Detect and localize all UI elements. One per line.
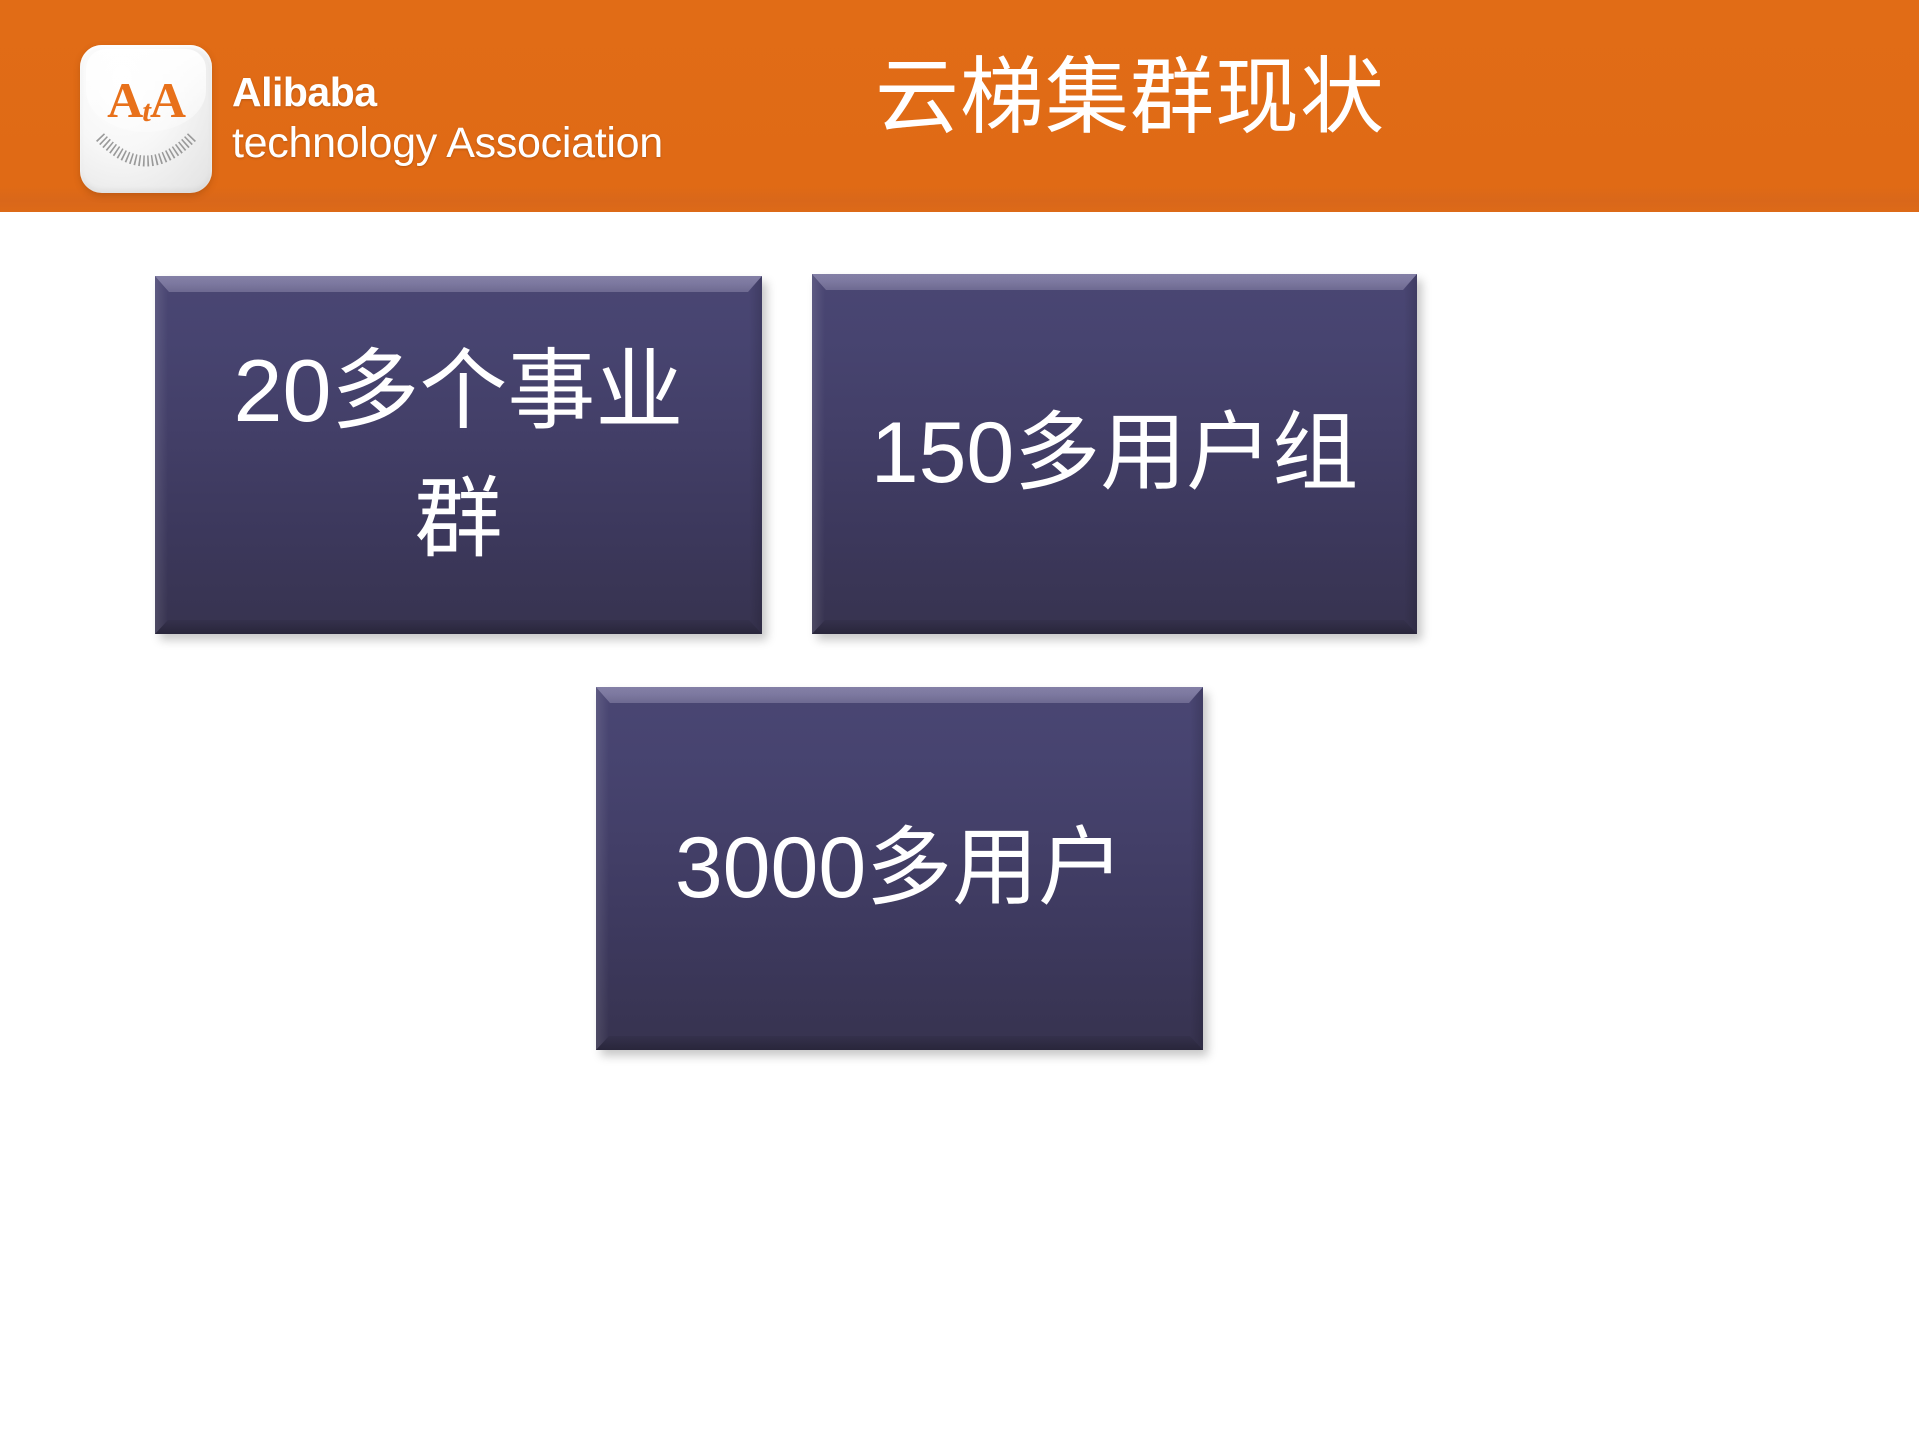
stat-box-label: 150多用户组: [812, 274, 1417, 634]
stat-box-label: 20多个事业群: [155, 276, 762, 634]
brand-name-alibaba: Alibaba: [232, 72, 663, 113]
logo-letter-t: t: [142, 93, 150, 128]
ata-logo-mark: AtA: [80, 75, 212, 125]
brand-wordmark: Alibaba technology Association: [232, 72, 663, 167]
dotted-smile-arc-icon: [96, 131, 196, 175]
brand-name-technology-association: technology Association: [232, 119, 663, 167]
presentation-slide: AtA Alibaba technology Association 云梯集群现…: [0, 0, 1919, 1439]
logo-letter-a-left: A: [107, 72, 142, 128]
stat-box-users: 3000多用户: [596, 687, 1203, 1050]
ata-logo-tile: AtA: [80, 45, 212, 193]
slide-header-bar: AtA Alibaba technology Association 云梯集群现…: [0, 0, 1919, 212]
stat-box-user-groups: 150多用户组: [812, 274, 1417, 634]
stat-box-business-groups: 20多个事业群: [155, 276, 762, 634]
slide-title: 云梯集群现状: [875, 48, 1385, 147]
logo-letter-a-right: A: [150, 72, 185, 128]
stat-box-label: 3000多用户: [596, 687, 1203, 1050]
